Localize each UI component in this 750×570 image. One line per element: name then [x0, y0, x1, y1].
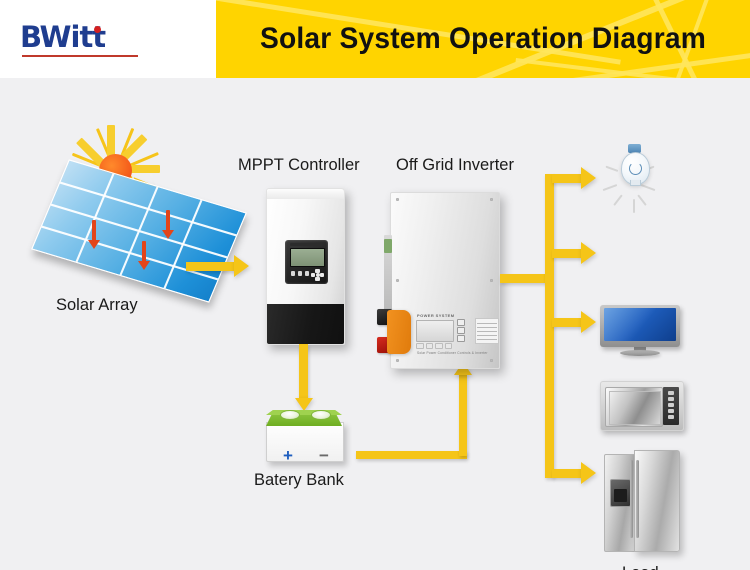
bulb-filament	[629, 162, 642, 175]
flow-bus-to-refrigerator-head	[581, 462, 596, 484]
water-dispenser	[610, 479, 631, 507]
tv-stand	[620, 350, 660, 356]
page-header: BWitt Solar System Operation Diagram	[0, 0, 750, 78]
diagram-page: BWitt Solar System Operation Diagram	[0, 0, 750, 570]
microwave-door	[605, 387, 663, 427]
flow-solar-to-mppt-head	[234, 255, 249, 277]
flow-bus-to-microwave	[552, 318, 584, 327]
mppt-display-panel	[285, 240, 328, 284]
flow-bus-to-bulb	[552, 174, 584, 183]
inverter-icon: POWER SYSTEM Solar Power Conditioner Con…	[390, 192, 500, 369]
brand-logo: BWitt	[20, 22, 140, 62]
flow-bus-to-tv	[552, 249, 584, 258]
brand-logo-text: BWitt	[20, 22, 140, 52]
mppt-controller-label: MPPT Controller	[238, 156, 360, 175]
battery-body: + −	[266, 422, 344, 462]
flow-mppt-to-battery	[299, 344, 308, 400]
battery-icon: + −	[264, 408, 348, 460]
logo-underline	[22, 55, 138, 57]
refrigerator-icon	[604, 450, 680, 554]
battery-cap	[280, 410, 300, 420]
light-bulb-icon	[608, 140, 660, 204]
flow-solar-to-mppt	[186, 262, 236, 271]
mppt-lcd-screen	[290, 248, 325, 267]
off-grid-inverter-label: Off Grid Inverter	[396, 156, 514, 175]
flow-battery-to-inverter-h	[356, 451, 467, 459]
mppt-navigation-pad	[311, 269, 324, 281]
inverter-ground-terminal	[384, 239, 392, 253]
inverter-status-icons	[457, 319, 471, 343]
flow-bus-to-microwave-head	[581, 311, 596, 333]
mppt-base-cover	[267, 304, 344, 344]
mppt-controller-icon	[266, 188, 345, 345]
inverter-terminal-cover	[387, 310, 411, 354]
flow-bus-to-bulb-head	[581, 167, 596, 189]
page-title: Solar System Operation Diagram	[232, 0, 734, 78]
bulb-neck	[630, 180, 641, 186]
battery-bank-label: Batery Bank	[254, 471, 344, 490]
solar-panel-surface	[31, 159, 247, 302]
header-banner: Solar System Operation Diagram	[216, 0, 750, 78]
inverter-footer-text: Solar Power Conditioner Controls & Inver…	[417, 351, 488, 355]
microwave-window	[609, 391, 661, 425]
tv-icon	[600, 305, 680, 357]
diagram-canvas: Solar Array MPPT Controller	[0, 78, 750, 570]
load-label: Load	[622, 564, 659, 570]
microwave-icon	[600, 381, 684, 431]
refrigerator-fridge-door	[634, 450, 680, 552]
logo-dot-accent	[94, 26, 101, 33]
flow-battery-to-inverter-v	[459, 374, 467, 456]
battery-negative-terminal: −	[319, 449, 329, 463]
flow-inverter-to-bus	[500, 274, 548, 283]
solar-array-label: Solar Array	[56, 296, 138, 315]
mppt-top-bevel	[267, 189, 344, 199]
inverter-keypad	[416, 343, 452, 349]
inverter-brand-text: POWER SYSTEM	[417, 313, 454, 318]
microwave-control-panel	[663, 387, 679, 425]
inverter-lcd-screen	[416, 320, 454, 342]
flow-bus-to-tv-head	[581, 242, 596, 264]
battery-positive-terminal: +	[283, 449, 293, 463]
battery-cap	[311, 410, 331, 420]
flow-bus-to-refrigerator	[552, 469, 584, 478]
inverter-spec-table	[475, 318, 499, 344]
